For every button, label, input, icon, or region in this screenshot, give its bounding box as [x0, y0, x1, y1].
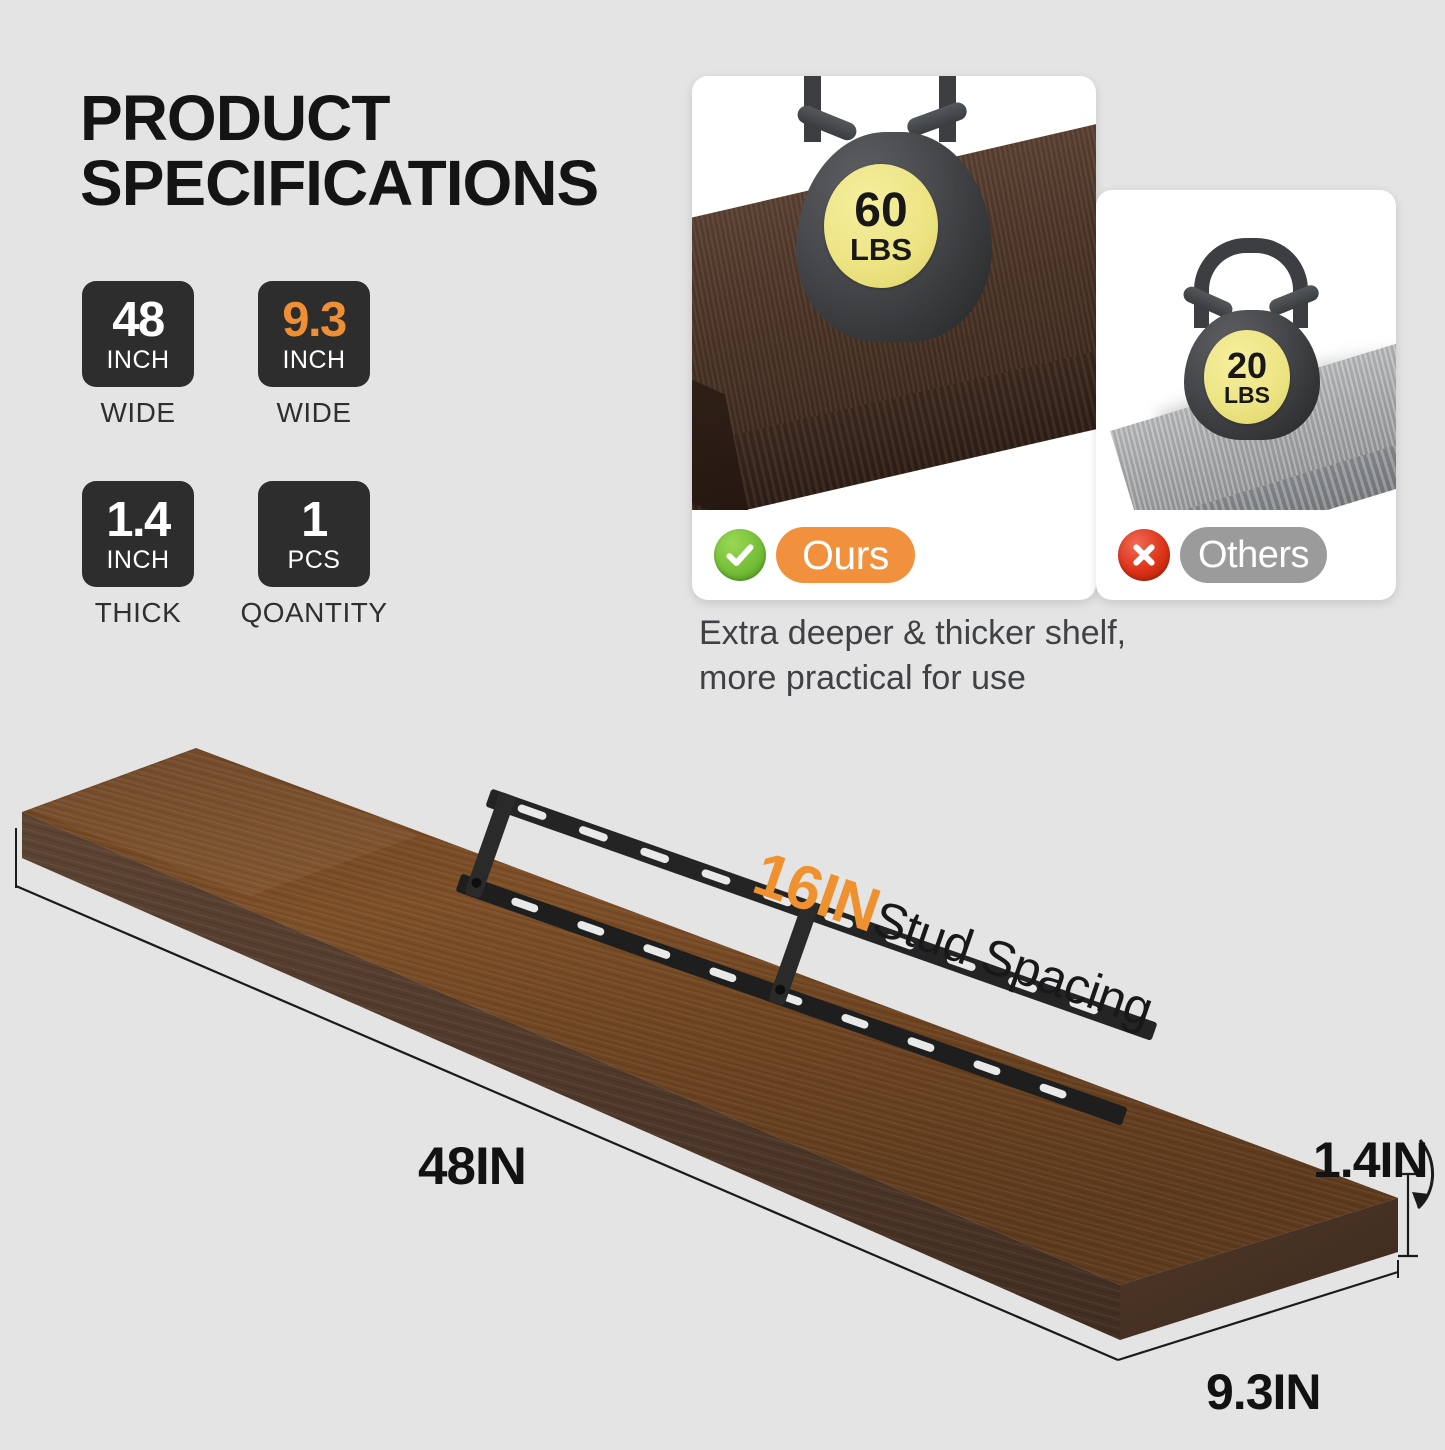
caption-line2: more practical for use [699, 656, 1259, 701]
weight-unit: LBS [1224, 384, 1270, 407]
cross-icon [1118, 529, 1170, 581]
spec-badge-box: 9.3 INCH [258, 281, 370, 387]
spec-badge-box: 1.4 INCH [82, 481, 194, 587]
comparison-card-others: 20 LBS Others [1096, 190, 1396, 600]
specification-infographic: PRODUCT SPECIFICATIONS 48 INCH WIDE 9.3 … [0, 0, 1445, 1445]
ours-pill: Ours [776, 527, 915, 583]
others-pill: Others [1180, 527, 1327, 583]
weight-unit: LBS [850, 235, 912, 265]
spec-value: 9.3 [282, 297, 346, 344]
spec-badge-box: 1 PCS [258, 481, 370, 587]
spec-unit: INCH [106, 347, 169, 373]
others-label: Others [1198, 534, 1309, 577]
weight-value: 60 [854, 187, 907, 234]
ours-footer: Ours [692, 510, 1096, 600]
ours-photo: 60 LBS [692, 76, 1096, 510]
spec-badge-depth-93: 9.3 INCH WIDE [258, 281, 370, 429]
product-render: 16INStud Spacing [0, 700, 1445, 1445]
others-photo: 20 LBS [1096, 190, 1396, 510]
dimension-label-depth: 9.3IN [1206, 1363, 1321, 1421]
weight-badge: 60 LBS [824, 164, 938, 288]
weight-value: 20 [1227, 348, 1267, 383]
page-title-line1: PRODUCT [80, 82, 389, 154]
check-icon [714, 529, 766, 581]
spec-caption: QOANTITY [240, 597, 387, 629]
spec-caption: WIDE [100, 397, 175, 429]
shelf-illustration [0, 700, 1445, 1445]
spec-badge-width-48: 48 INCH WIDE [82, 281, 194, 429]
spec-unit: INCH [282, 347, 345, 373]
comparison-caption: Extra deeper & thicker shelf, more pract… [699, 611, 1259, 701]
page-title-line2: SPECIFICATIONS [80, 151, 700, 216]
spec-badge-row: 1.4 INCH THICK 1 PCS QOANTITY [82, 481, 412, 629]
others-footer: Others [1096, 510, 1396, 600]
spec-value: 1.4 [106, 497, 170, 544]
spec-unit: PCS [288, 547, 341, 573]
spec-value: 1 [301, 497, 327, 544]
kettlebell-60lbs-icon: 60 LBS [778, 76, 1010, 360]
spec-unit: INCH [106, 547, 169, 573]
ours-label: Ours [802, 532, 889, 579]
caption-line1: Extra deeper & thicker shelf, [699, 611, 1259, 656]
spec-badge-grid: 48 INCH WIDE 9.3 INCH WIDE 1.4 INCH THI [82, 281, 412, 629]
comparison-card-ours: 60 LBS Ours [692, 76, 1096, 600]
kettlebell-20lbs-icon: 20 LBS [1170, 232, 1334, 448]
spec-badge-quantity-1: 1 PCS QOANTITY [258, 481, 370, 629]
weight-badge: 20 LBS [1204, 330, 1290, 424]
spec-caption: WIDE [276, 397, 351, 429]
dimension-label-thickness: 1.4IN [1313, 1131, 1428, 1189]
dimension-label-length: 48IN [418, 1136, 526, 1197]
page-title: PRODUCT SPECIFICATIONS [80, 86, 700, 217]
spec-caption: THICK [95, 597, 182, 629]
spec-value: 48 [112, 297, 164, 344]
spec-badge-row: 48 INCH WIDE 9.3 INCH WIDE [82, 281, 412, 429]
spec-badge-box: 48 INCH [82, 281, 194, 387]
spec-badge-thickness-14: 1.4 INCH THICK [82, 481, 194, 629]
